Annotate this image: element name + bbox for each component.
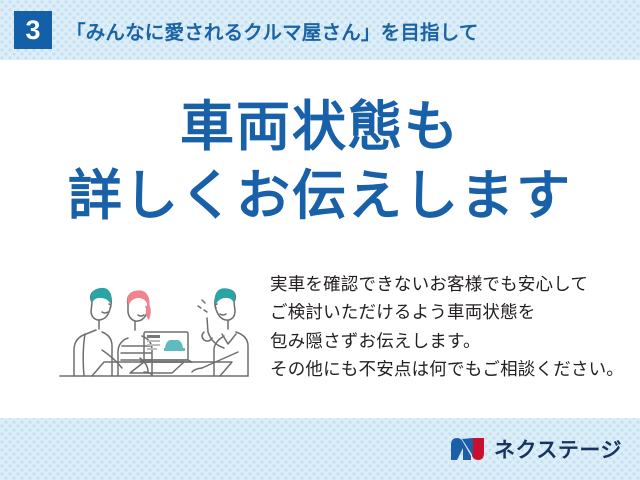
- lower-content-row: 実車を確認できないお客様でも安心して ご検討いただけるよう車両状態を 包み隠さず…: [0, 266, 640, 406]
- header-title: 「みんなに愛されるクルマ屋さん」を目指して: [66, 16, 479, 45]
- brand-logo: ネクステージ: [449, 434, 622, 464]
- body-copy-line: ご検討いただけるよう車両状態を: [270, 298, 624, 326]
- headline-line-2: 詳しくお伝えします: [0, 165, 640, 228]
- banner-footer: ネクステージ: [0, 418, 640, 480]
- brand-name: ネクステージ: [494, 434, 622, 464]
- body-copy-line: その他にも不安点は何でもご相談ください。: [270, 355, 624, 383]
- body-copy-line: 包み隠さずお伝えします。: [270, 327, 624, 355]
- promo-banner: 3 「みんなに愛されるクルマ屋さん」を目指して 車両状態も 詳しくお伝えします: [0, 0, 640, 480]
- headline: 車両状態も 詳しくお伝えします: [0, 96, 640, 227]
- consultation-illustration: [52, 272, 262, 392]
- step-number-badge: 3: [14, 11, 52, 49]
- content-panel: 車両状態も 詳しくお伝えします: [0, 60, 640, 418]
- banner-header: 3 「みんなに愛されるクルマ屋さん」を目指して: [0, 0, 640, 60]
- headline-line-1: 車両状態も: [0, 96, 640, 159]
- nextage-n-mark-icon: [449, 436, 487, 462]
- body-copy: 実車を確認できないお客様でも安心して ご検討いただけるよう車両状態を 包み隠さず…: [270, 270, 624, 383]
- body-copy-line: 実車を確認できないお客様でも安心して: [270, 270, 624, 298]
